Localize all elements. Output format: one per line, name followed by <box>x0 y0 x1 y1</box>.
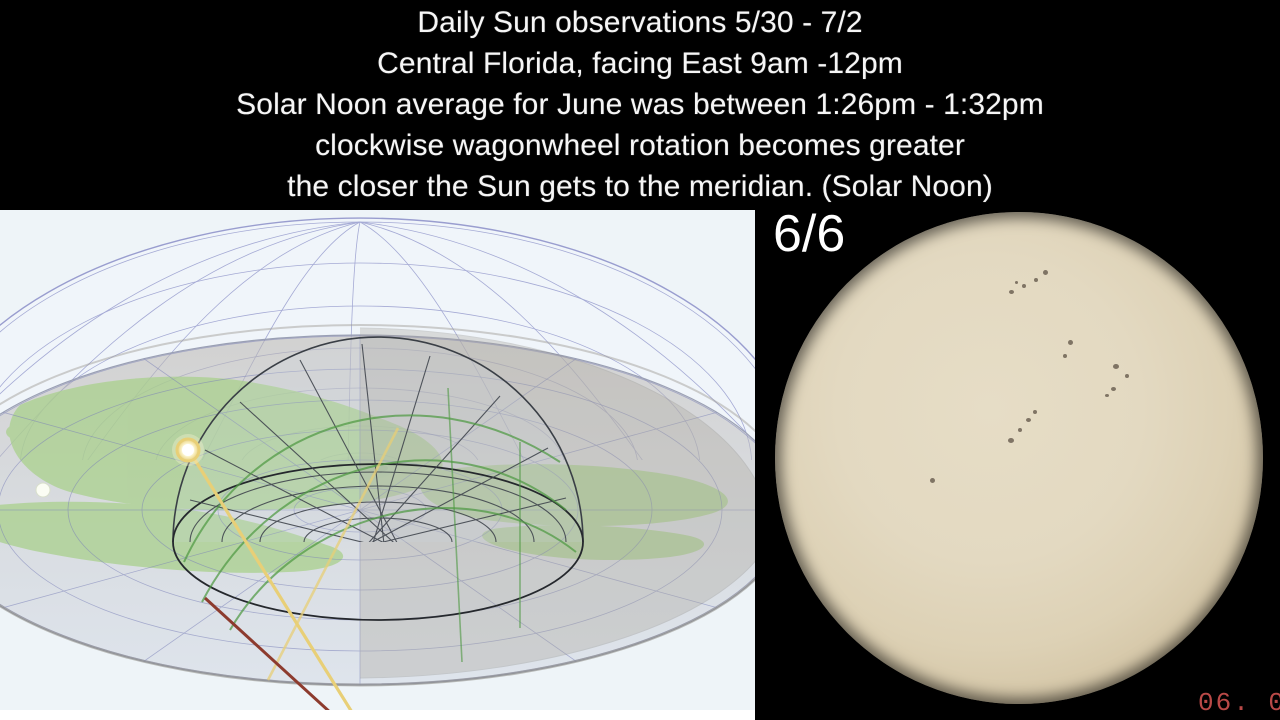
sunspot <box>1105 394 1109 397</box>
sun-disk <box>775 212 1263 704</box>
dome-model-svg <box>0 210 755 710</box>
sunspot <box>1009 290 1014 294</box>
caption-overlay: Daily Sun observations 5/30 - 7/2 Centra… <box>0 0 1280 210</box>
caption-line-1: Daily Sun observations 5/30 - 7/2 <box>0 2 1280 43</box>
caption-line-3: Solar Noon average for June was between … <box>0 84 1280 125</box>
camera-timestamp: 06. 0 <box>1198 688 1280 718</box>
sunspot <box>1043 270 1048 275</box>
sunspot <box>1063 354 1067 358</box>
solar-image-panel: 6/6 06. 0 <box>755 210 1280 720</box>
caption-line-4: clockwise wagonwheel rotation becomes gr… <box>0 125 1280 166</box>
sunspot <box>930 478 935 483</box>
caption-line-5: the closer the Sun gets to the meridian.… <box>0 166 1280 207</box>
sunspot <box>1018 428 1022 432</box>
caption-line-2: Central Florida, facing East 9am -12pm <box>0 43 1280 84</box>
sunspot <box>1022 284 1026 288</box>
observation-date-label: 6/6 <box>773 210 845 262</box>
sunspot <box>1068 340 1073 345</box>
panel-bottom-seam <box>0 710 755 720</box>
sunspot <box>1111 387 1116 391</box>
video-frame: Daily Sun observations 5/30 - 7/2 Centra… <box>0 0 1280 720</box>
location-dot-marker <box>36 483 50 497</box>
sunspot <box>1026 418 1031 422</box>
sun-marker <box>172 434 204 466</box>
sunspot <box>1015 281 1018 284</box>
sunspot <box>1034 278 1038 282</box>
sunspot <box>1125 374 1129 378</box>
sunspot <box>1033 410 1037 414</box>
sunspot <box>1113 364 1119 369</box>
sunspot <box>1008 438 1014 443</box>
flat-earth-dome-diagram <box>0 210 755 710</box>
